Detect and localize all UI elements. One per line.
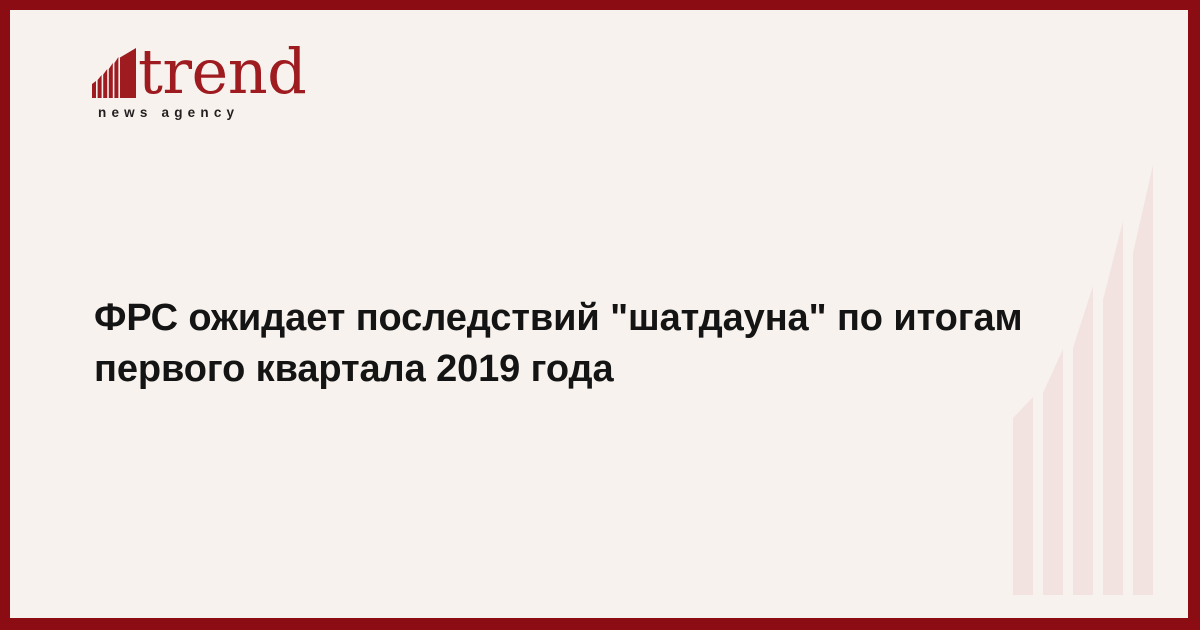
headline-line-2: первого квартала 2019 года — [94, 344, 1054, 394]
brand-wordmark: trend — [138, 43, 306, 100]
brand-logo[interactable]: trend news agency — [92, 38, 392, 120]
headline-line-1: ФРС ожидает последствий "шатдауна" по ит… — [94, 293, 1054, 343]
frame-border-bottom — [0, 618, 1200, 630]
frame-border-top — [0, 0, 1200, 10]
frame-border-left — [0, 0, 10, 630]
trend-bars-icon — [92, 48, 136, 98]
article-share-card: trend news agency ФРС ожидает последстви… — [0, 0, 1200, 630]
frame-border-right — [1188, 0, 1200, 630]
brand-logo-row: trend — [92, 38, 392, 100]
article-headline: ФРС ожидает последствий "шатдауна" по ит… — [94, 293, 1054, 393]
